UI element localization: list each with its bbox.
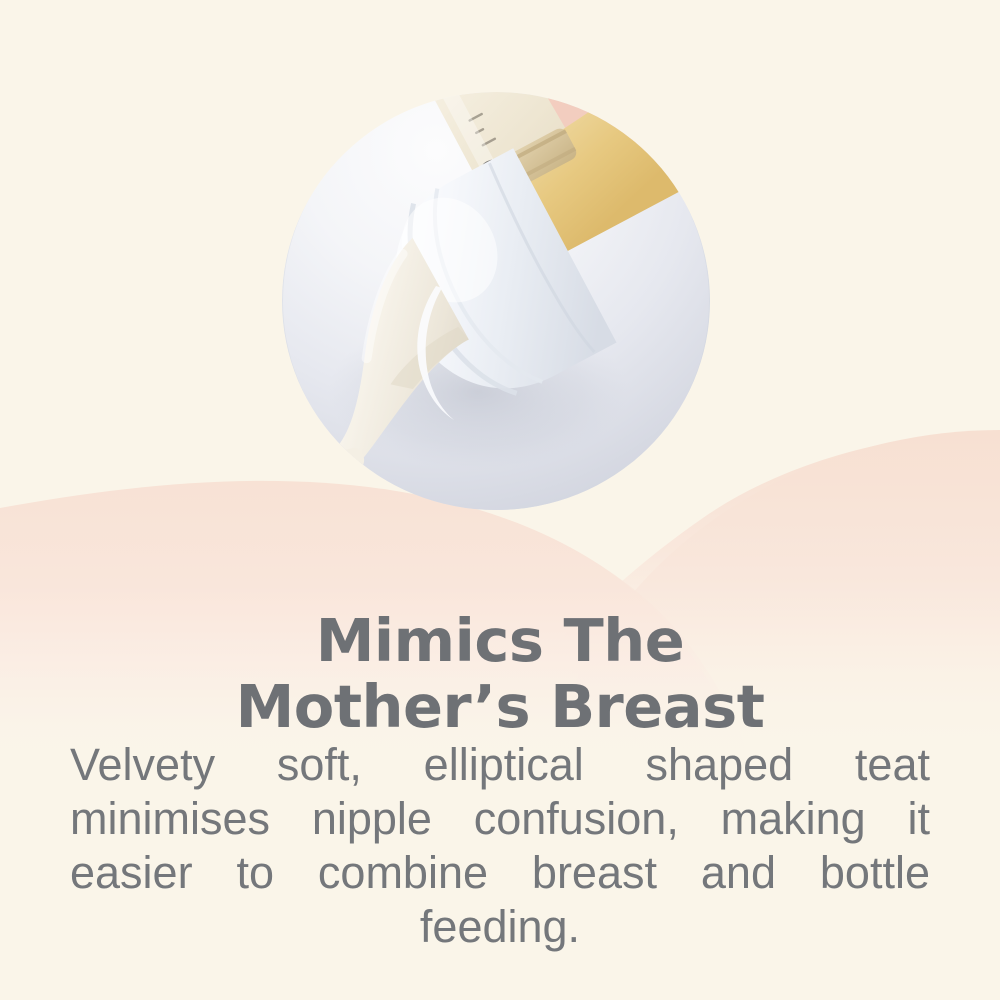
description-line-2: minimises nipple confusion, making it <box>70 792 930 846</box>
headline-line-1: Mimics The <box>0 608 1000 674</box>
product-feature-card: hegen <box>0 0 1000 1000</box>
description-text: Velvety soft, elliptical shaped teat min… <box>70 738 930 954</box>
headline-line-2: Mother’s Breast <box>0 674 1000 740</box>
page-title: Mimics The Mother’s Breast <box>0 608 1000 740</box>
description-line-3: easier to combine breast and bottle <box>70 846 930 900</box>
product-photo-circle: hegen <box>282 92 710 510</box>
description-line-4: feeding. <box>70 900 930 954</box>
description-line-1: Velvety soft, elliptical shaped teat <box>70 738 930 792</box>
